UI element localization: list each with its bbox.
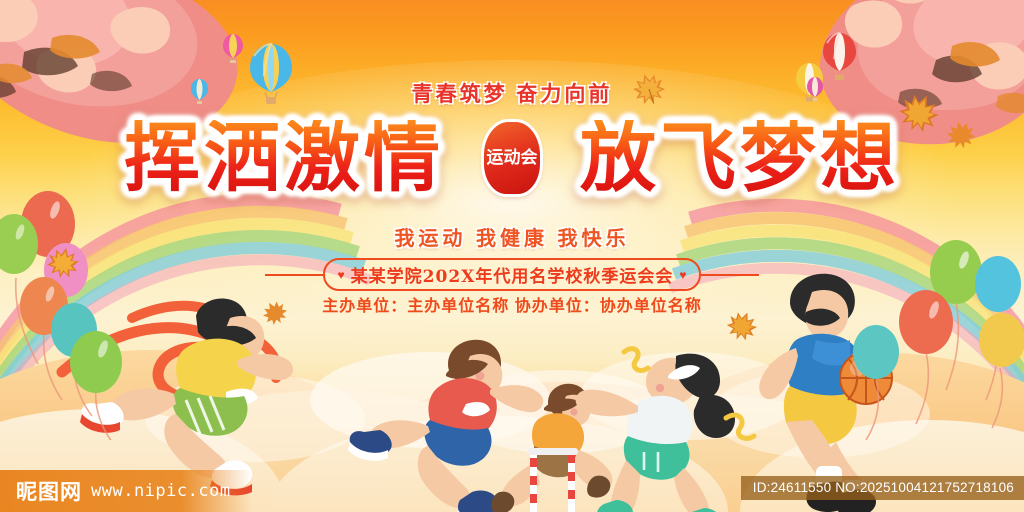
sports-meet-poster: 青春筑梦 奋力向前 挥洒激情 运动会 放飞梦想 我运动 我健康 我快乐 ♥ 某某…	[0, 0, 1024, 512]
hot-air-balloon-pink-magenta	[222, 33, 244, 63]
watermark-url: www.nipic.com	[91, 481, 231, 501]
heart-icon-right: ♥	[679, 269, 686, 281]
heart-icon-left: ♥	[338, 269, 345, 281]
main-title-row: 挥洒激情 运动会 放飞梦想	[0, 108, 1024, 208]
main-title-left: 挥洒激情	[124, 120, 444, 196]
hot-air-balloon-red-white	[822, 32, 857, 80]
image-id-bar: ID:24611550 NO:20251004121752718106	[741, 476, 1024, 500]
top-slogan: 青春筑梦 奋力向前	[0, 78, 1024, 108]
event-name-box: ♥ 某某学院202X年代用名学校秋季运会会 ♥	[323, 258, 702, 291]
event-name-band: ♥ 某某学院202X年代用名学校秋季运会会 ♥	[0, 258, 1024, 291]
band-rule-right	[701, 274, 759, 276]
sub-slogan: 我运动 我健康 我快乐	[0, 222, 1024, 251]
main-title-right: 放飞梦想	[580, 120, 900, 196]
sports-meet-seal: 运动会	[484, 122, 540, 194]
event-name-text: 某某学院202X年代用名学校秋季运会会	[351, 262, 674, 287]
organizer-line: 主办单位：主办单位名称 协办单位：协办单位名称	[0, 292, 1024, 316]
band-rule-left	[265, 274, 323, 276]
watermark-site-name: 昵图网	[16, 476, 82, 506]
watermark-bar: 昵图网 www.nipic.com	[0, 470, 252, 512]
